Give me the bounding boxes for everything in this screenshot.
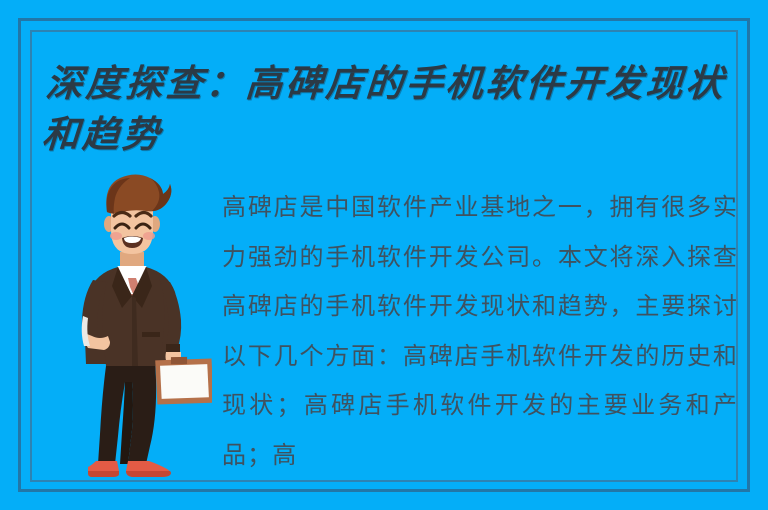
poster-body-text: 高碑店是中国软件产业基地之一，拥有很多实力强劲的手机软件开发公司。本文将深入探查… (222, 183, 738, 483)
shoes-group (88, 461, 171, 477)
head-group (104, 175, 171, 255)
clipboard-group (151, 352, 212, 411)
left-cheek (110, 232, 122, 240)
businessman-svg (62, 168, 212, 486)
right-shoe-sole (126, 471, 171, 477)
poster-title: 深度探查：高碑店的手机软件开发现状和趋势 (40, 58, 747, 160)
poster-canvas: 深度探查：高碑店的手机软件开发现状和趋势 高碑店是中国软件产业基地之一，拥有很多… (0, 0, 768, 510)
businessman-illustration (62, 168, 212, 486)
right-cheek (143, 232, 155, 240)
jacket-pocket (142, 332, 160, 337)
clipboard-paper (157, 359, 212, 404)
left-shoe-sole (88, 471, 119, 477)
